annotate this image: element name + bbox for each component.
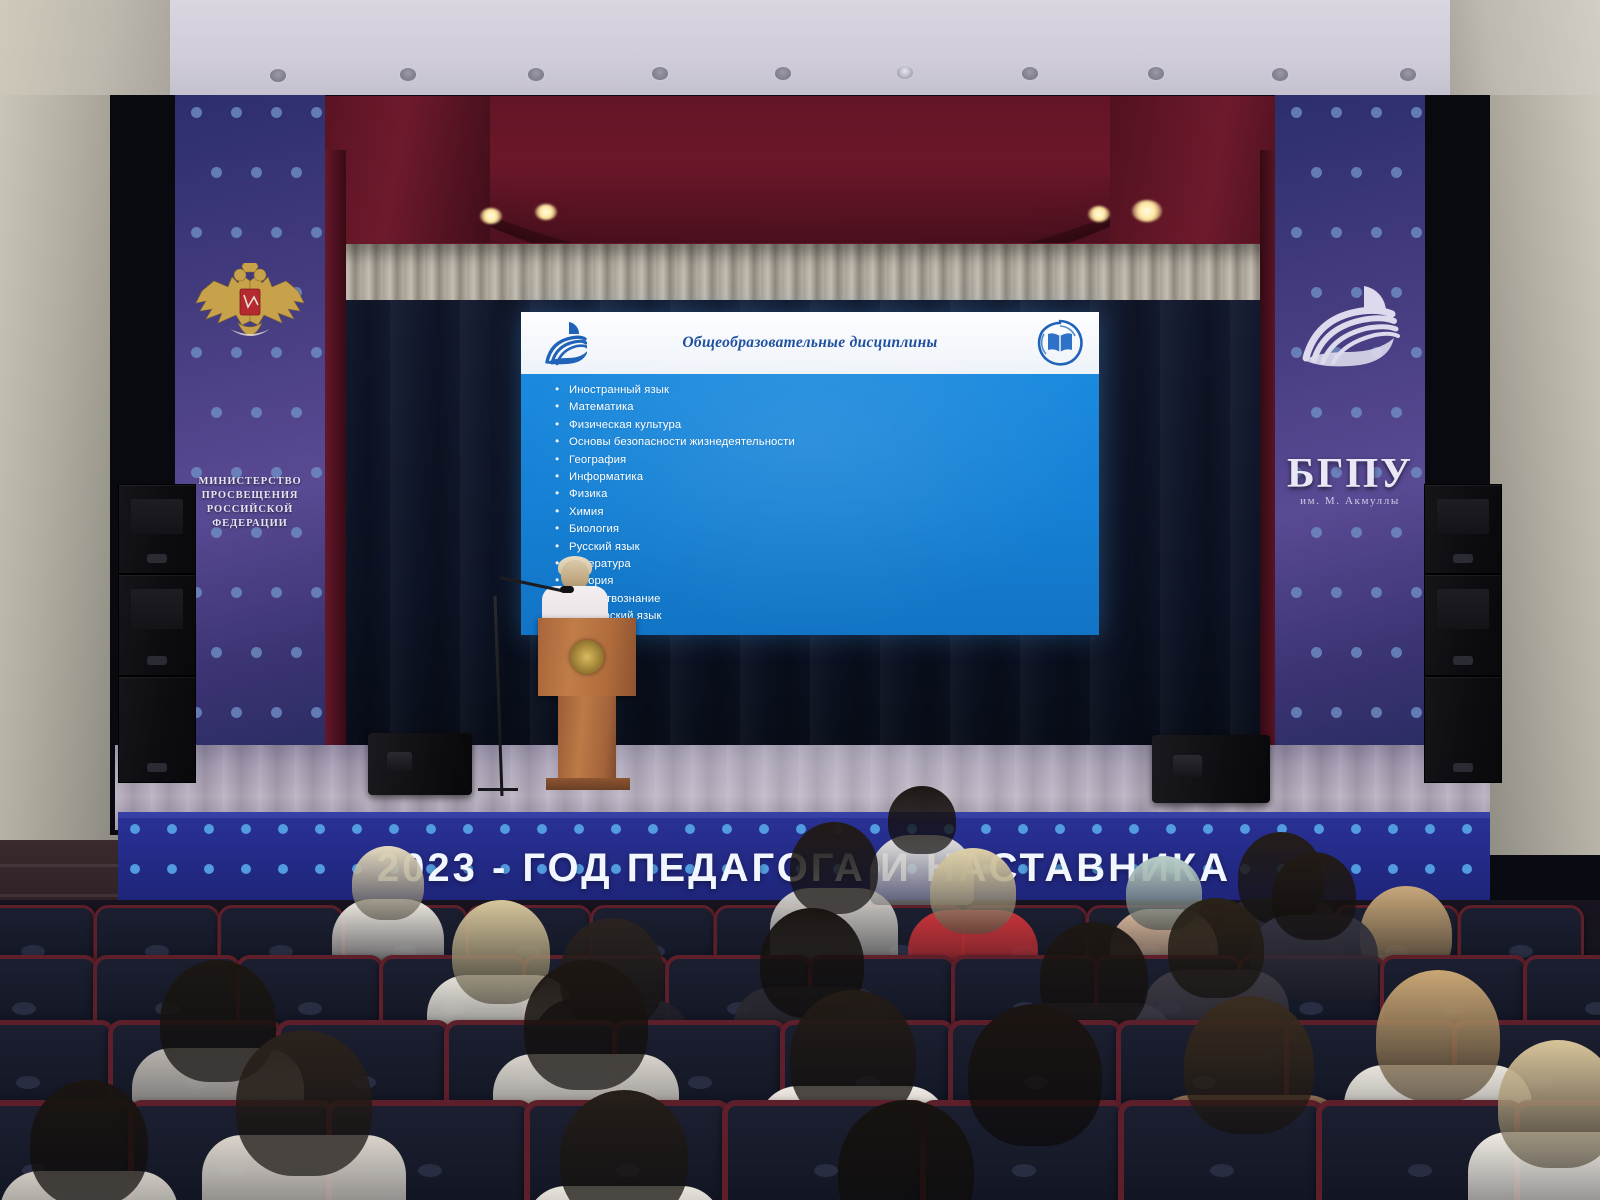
- microphone-tripod: [478, 788, 518, 791]
- pa-badge: [147, 554, 167, 563]
- banner-dot: [291, 407, 302, 418]
- seat-knob: [1408, 1164, 1432, 1177]
- banner-dot: [211, 167, 222, 178]
- ministry-line-2: ПРОСВЕЩЕНИЯ: [175, 489, 325, 503]
- slide-bullet-3: Основы безопасности жизнедеятельности: [555, 434, 1099, 451]
- banner-dot: [231, 707, 242, 718]
- audience-attendee: [236, 1030, 372, 1176]
- banner-dot: [311, 707, 322, 718]
- stage-front-dot: [352, 824, 362, 834]
- banner-dot: [191, 107, 202, 118]
- stage-front-dot: [1092, 824, 1102, 834]
- pa-speaker-stack: [1424, 484, 1502, 783]
- slide-bullet-1: Математика: [555, 399, 1099, 416]
- audience-attendee: [930, 848, 1016, 934]
- monitor-handle: [1173, 755, 1201, 777]
- banner-dot: [1411, 107, 1422, 118]
- banner-dot: [1411, 587, 1422, 598]
- banner-dot: [251, 167, 262, 178]
- audience-attendee: [1184, 996, 1314, 1134]
- stage-front-dot: [278, 824, 288, 834]
- banner-dot: [311, 587, 322, 598]
- stage-front-dot: [870, 824, 880, 834]
- recessed-ceiling-downlight: [270, 69, 286, 82]
- stage-front-dot: [1203, 824, 1213, 834]
- seat-knob: [12, 1002, 36, 1015]
- stage-floor-monitor: [368, 733, 472, 795]
- stage-front-dot: [574, 824, 584, 834]
- stage-front-dot: [1388, 824, 1398, 834]
- slide-title: Общеобразовательные дисциплины: [521, 334, 1099, 352]
- stage-front-dot: [130, 824, 140, 834]
- slide-bullet-list: Иностранный языкМатематикаФизическая кул…: [555, 382, 1099, 626]
- banner-dot: [251, 647, 262, 658]
- banner-dot: [1371, 227, 1382, 238]
- slide-bullet-12: Обществознание: [555, 591, 1099, 608]
- banner-dot: [311, 107, 322, 118]
- banner-dot: [1411, 347, 1422, 358]
- pa-cabinet-top: [118, 484, 196, 574]
- banner-ministry: МИНИСТЕРСТВО ПРОСВЕЩЕНИЯ РОССИЙСКОЙ ФЕДЕ…: [175, 95, 325, 785]
- banner-dot: [231, 587, 242, 598]
- slide-bullet-11: История: [555, 573, 1099, 590]
- stage-front-dot: [241, 824, 251, 834]
- banner-dot: [291, 647, 302, 658]
- stage-curtain: [320, 96, 1280, 306]
- stage-front-dot: [759, 824, 769, 834]
- banner-bgpu: БГПУ им. М. Акмуллы: [1275, 95, 1425, 785]
- stage-front-dot: [1425, 824, 1435, 834]
- banner-dot: [211, 647, 222, 658]
- banner-dot: [291, 167, 302, 178]
- banner-dot: [271, 587, 282, 598]
- banner-dot: [231, 107, 242, 118]
- pa-badge: [1453, 554, 1473, 563]
- audience-attendee: [790, 822, 878, 914]
- banner-dot: [1391, 167, 1402, 178]
- stage-front-dot: [611, 824, 621, 834]
- stage-front-dot: [1129, 824, 1139, 834]
- seat-knob: [1012, 1164, 1036, 1177]
- banner-dot: [1351, 647, 1362, 658]
- podium-base: [546, 778, 630, 790]
- stage-front-dot: [500, 824, 510, 834]
- pa-badge: [147, 763, 167, 772]
- pleated-valance: [320, 244, 1280, 306]
- pa-badge: [147, 656, 167, 665]
- bgpu-wave-logo: [1290, 280, 1410, 370]
- banner-dot: [1291, 587, 1302, 598]
- pa-grille: [1437, 589, 1489, 629]
- banner-dot: [271, 227, 282, 238]
- audience-attendee: [30, 1080, 148, 1200]
- stage-front-dot: [167, 824, 177, 834]
- pa-cabinet-mid: [1424, 574, 1502, 676]
- pa-cabinet-bottom: [1424, 676, 1502, 783]
- stage-front-dot: [1351, 824, 1361, 834]
- seat-knob: [1585, 1002, 1600, 1015]
- pa-speaker-stack: [118, 484, 196, 783]
- stage-front-dot: [389, 824, 399, 834]
- slide-bullet-4: География: [555, 452, 1099, 469]
- banner-dot: [1391, 647, 1402, 658]
- ministry-caption: МИНИСТЕРСТВО ПРОСВЕЩЕНИЯ РОССИЙСКОЙ ФЕДЕ…: [175, 475, 325, 531]
- stage-spotlight: [1088, 206, 1110, 222]
- seat-knob: [16, 1076, 40, 1089]
- recessed-ceiling-downlight: [1272, 68, 1288, 81]
- stage-front-dot: [1166, 824, 1176, 834]
- banner-dot: [1331, 587, 1342, 598]
- stage-floor-monitor: [1152, 735, 1270, 803]
- pa-badge: [1453, 763, 1473, 772]
- stage-front-dot: [537, 824, 547, 834]
- recessed-ceiling-downlight: [897, 66, 913, 79]
- banner-dot: [1371, 707, 1382, 718]
- stage-spotlight: [1132, 200, 1162, 222]
- russian-double-headed-eagle-emblem: [192, 263, 308, 355]
- banner-dot: [1331, 107, 1342, 118]
- banner-dot: [1331, 707, 1342, 718]
- microphone-head: [560, 586, 574, 593]
- banner-dot: [1311, 647, 1322, 658]
- banner-dot: [231, 227, 242, 238]
- stage-front-dot: [648, 824, 658, 834]
- seat-knob: [1210, 1164, 1234, 1177]
- stage-front-dot: [981, 824, 991, 834]
- banner-dot: [1291, 227, 1302, 238]
- ministry-line-4: ФЕДЕРАЦИИ: [175, 517, 325, 531]
- banner-dot: [1311, 407, 1322, 418]
- seat-knob: [688, 1076, 712, 1089]
- slide-bullet-0: Иностранный язык: [555, 382, 1099, 399]
- open-book-circle-logo: [1035, 318, 1085, 368]
- slide-header: Общеобразовательные дисциплины: [521, 312, 1099, 374]
- stage-front-dot: [722, 824, 732, 834]
- banner-dot: [1371, 587, 1382, 598]
- banner-dot: [1391, 407, 1402, 418]
- slide-bullet-8: Биология: [555, 521, 1099, 538]
- banner-dot: [1291, 107, 1302, 118]
- ministry-line-3: РОССИЙСКОЙ: [175, 503, 325, 517]
- pa-cabinet-bottom: [118, 676, 196, 783]
- stage-front-dot: [685, 824, 695, 834]
- bgpu-subtitle: им. М. Акмуллы: [1275, 495, 1425, 507]
- seat-knob: [298, 1002, 322, 1015]
- podium-column: [558, 696, 616, 784]
- slide-body: Иностранный языкМатематикаФизическая кул…: [521, 374, 1099, 635]
- banner-dot: [251, 407, 262, 418]
- slide-bullet-7: Химия: [555, 504, 1099, 521]
- ministry-line-1: МИНИСТЕРСТВО: [175, 475, 325, 489]
- slide-bullet-5: Информатика: [555, 469, 1099, 486]
- monitor-handle: [387, 752, 412, 772]
- stage-front-dot: [1314, 824, 1324, 834]
- slide-bullet-2: Физическая культура: [555, 417, 1099, 434]
- stage-front-dot: [204, 824, 214, 834]
- seat-knob: [418, 1164, 442, 1177]
- stage-front-dot: [315, 824, 325, 834]
- banner-dot: [1311, 527, 1322, 538]
- slide-bullet-9: Русский язык: [555, 539, 1099, 556]
- slide-bullet-6: Физика: [555, 486, 1099, 503]
- audience-attendee: [1498, 1040, 1600, 1168]
- seat-knob: [1299, 1002, 1323, 1015]
- banner-dot: [1291, 707, 1302, 718]
- stage-front-dot: [463, 824, 473, 834]
- pa-grille: [131, 499, 183, 534]
- banner-dot: [1311, 167, 1322, 178]
- recessed-ceiling-downlight: [775, 67, 791, 80]
- banner-dot: [1411, 707, 1422, 718]
- audience-attendee: [888, 786, 956, 854]
- banner-dot: [1331, 227, 1342, 238]
- audience-attendee: [1272, 852, 1356, 940]
- stage-front-dot: [1018, 824, 1028, 834]
- recessed-ceiling-downlight: [528, 68, 544, 81]
- stage-front-edge: [118, 812, 1490, 818]
- banner-dot: [1351, 527, 1362, 538]
- stage-front-dot: [1462, 824, 1472, 834]
- audience-attendee: [1376, 970, 1500, 1102]
- banner-dot: [311, 227, 322, 238]
- bgpu-abbreviation: БГПУ: [1275, 450, 1425, 498]
- stage-spotlight: [535, 204, 557, 220]
- banner-dot: [1351, 407, 1362, 418]
- pa-cabinet-top: [1424, 484, 1502, 574]
- pa-badge: [1453, 656, 1473, 665]
- audience-attendee: [524, 960, 648, 1090]
- gold-round-crest: [570, 640, 604, 674]
- auditorium-photo-scene: МИНИСТЕРСТВО ПРОСВЕЩЕНИЯ РОССИЙСКОЙ ФЕДЕ…: [0, 0, 1600, 1200]
- banner-dot: [1371, 107, 1382, 118]
- banner-dot: [211, 407, 222, 418]
- stage-front-dot: [1240, 824, 1250, 834]
- banner-dot: [271, 107, 282, 118]
- banner-dot: [191, 227, 202, 238]
- stage-front-dot: [1055, 824, 1065, 834]
- seat-knob: [814, 1164, 838, 1177]
- banner-dot: [271, 707, 282, 718]
- slide-bullet-10: Литература: [555, 556, 1099, 573]
- bgpu-wave-logo: [543, 320, 587, 366]
- stage-front-dot: [426, 824, 436, 834]
- podium-top: [538, 618, 636, 696]
- stage-spotlight: [480, 208, 502, 224]
- audience-attendee: [968, 1004, 1102, 1146]
- banner-dot: [311, 347, 322, 358]
- projection-screen: Общеобразовательные дисциплины: [521, 312, 1099, 635]
- banner-dot: [1411, 227, 1422, 238]
- pa-cabinet-mid: [118, 574, 196, 676]
- banner-dot: [1351, 167, 1362, 178]
- wall-left: [0, 95, 120, 855]
- recessed-ceiling-downlight: [1022, 67, 1038, 80]
- slide-bullet-13: Башкирский язык: [555, 608, 1099, 625]
- audience-attendee: [352, 846, 424, 920]
- audience-attendee: [1168, 898, 1264, 998]
- banner-dot: [1391, 527, 1402, 538]
- pa-grille: [131, 589, 183, 629]
- pa-grille: [1437, 499, 1489, 534]
